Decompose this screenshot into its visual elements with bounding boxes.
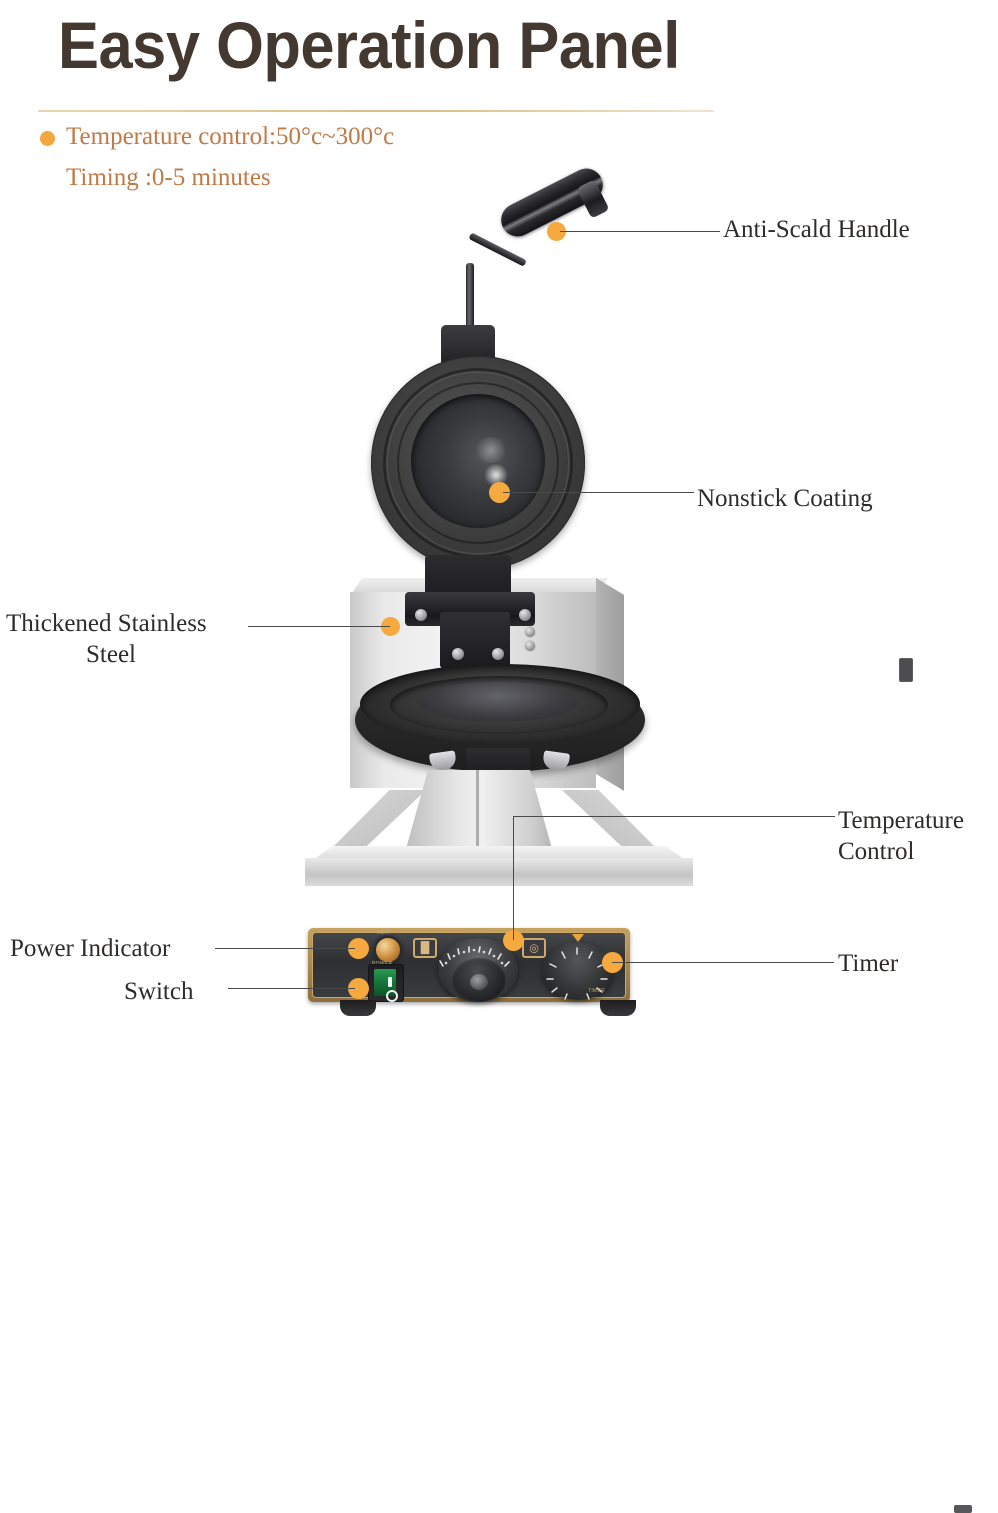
timer-caption: TIMER xyxy=(588,988,605,994)
pedestal-groove xyxy=(476,770,479,856)
label-thickened-stainless-steel: Thickened Stainless Steel xyxy=(6,608,207,670)
label-steel-line2: Steel xyxy=(6,639,207,670)
hinge-bolt xyxy=(525,641,535,651)
switch-on-marker xyxy=(388,977,392,987)
hinge-bolt xyxy=(519,609,531,621)
plate-highlight-secondary xyxy=(474,437,508,463)
label-anti-scald-handle: Anti-Scald Handle xyxy=(723,214,910,245)
leader-temperature-vertical xyxy=(513,816,514,940)
infographic-canvas: Easy Operation Panel Temperature control… xyxy=(0,0,998,1024)
leader-power xyxy=(215,948,355,949)
leader-temperature-horizontal xyxy=(513,816,835,817)
leader-timer xyxy=(612,962,834,963)
pedestal-column xyxy=(404,770,554,856)
base-slope-right xyxy=(562,790,658,850)
label-temperature-line2: Control xyxy=(838,836,964,867)
label-temperature-control: Temperature Control xyxy=(838,805,964,867)
leader-steel xyxy=(248,626,390,627)
hinge-bolt xyxy=(492,648,504,660)
power-switch[interactable] xyxy=(368,964,404,1002)
base-skirt xyxy=(305,858,693,886)
hinge-bolt xyxy=(525,627,535,637)
lower-plate-core xyxy=(418,682,578,722)
leader-nonstick xyxy=(503,492,694,493)
base-foot-right xyxy=(600,1000,636,1016)
label-nonstick-coating: Nonstick Coating xyxy=(697,483,873,514)
handle-end-cap xyxy=(576,179,609,218)
handle-mount-slot xyxy=(899,658,913,682)
label-steel-line1: Thickened Stainless xyxy=(6,610,207,637)
nonstick-coating-surface xyxy=(411,394,545,528)
plate-latch-slot xyxy=(954,1505,972,1513)
label-switch: Switch xyxy=(124,976,193,1007)
power-indicator-lamp[interactable] xyxy=(374,936,402,964)
handle-rod-upper xyxy=(468,232,526,266)
label-power-indicator: Power Indicator xyxy=(10,933,170,964)
leader-switch xyxy=(228,988,355,989)
leader-handle xyxy=(560,231,720,232)
label-timer: Timer xyxy=(838,948,898,979)
hinge-bolt xyxy=(452,648,464,660)
upper-cooking-plate xyxy=(371,356,585,570)
power-switch-face xyxy=(374,969,396,996)
switch-off-marker xyxy=(386,990,398,1002)
hinge-bolt xyxy=(415,609,427,621)
base-foot-left xyxy=(340,1000,376,1016)
label-temperature-line1: Temperature xyxy=(838,807,964,834)
